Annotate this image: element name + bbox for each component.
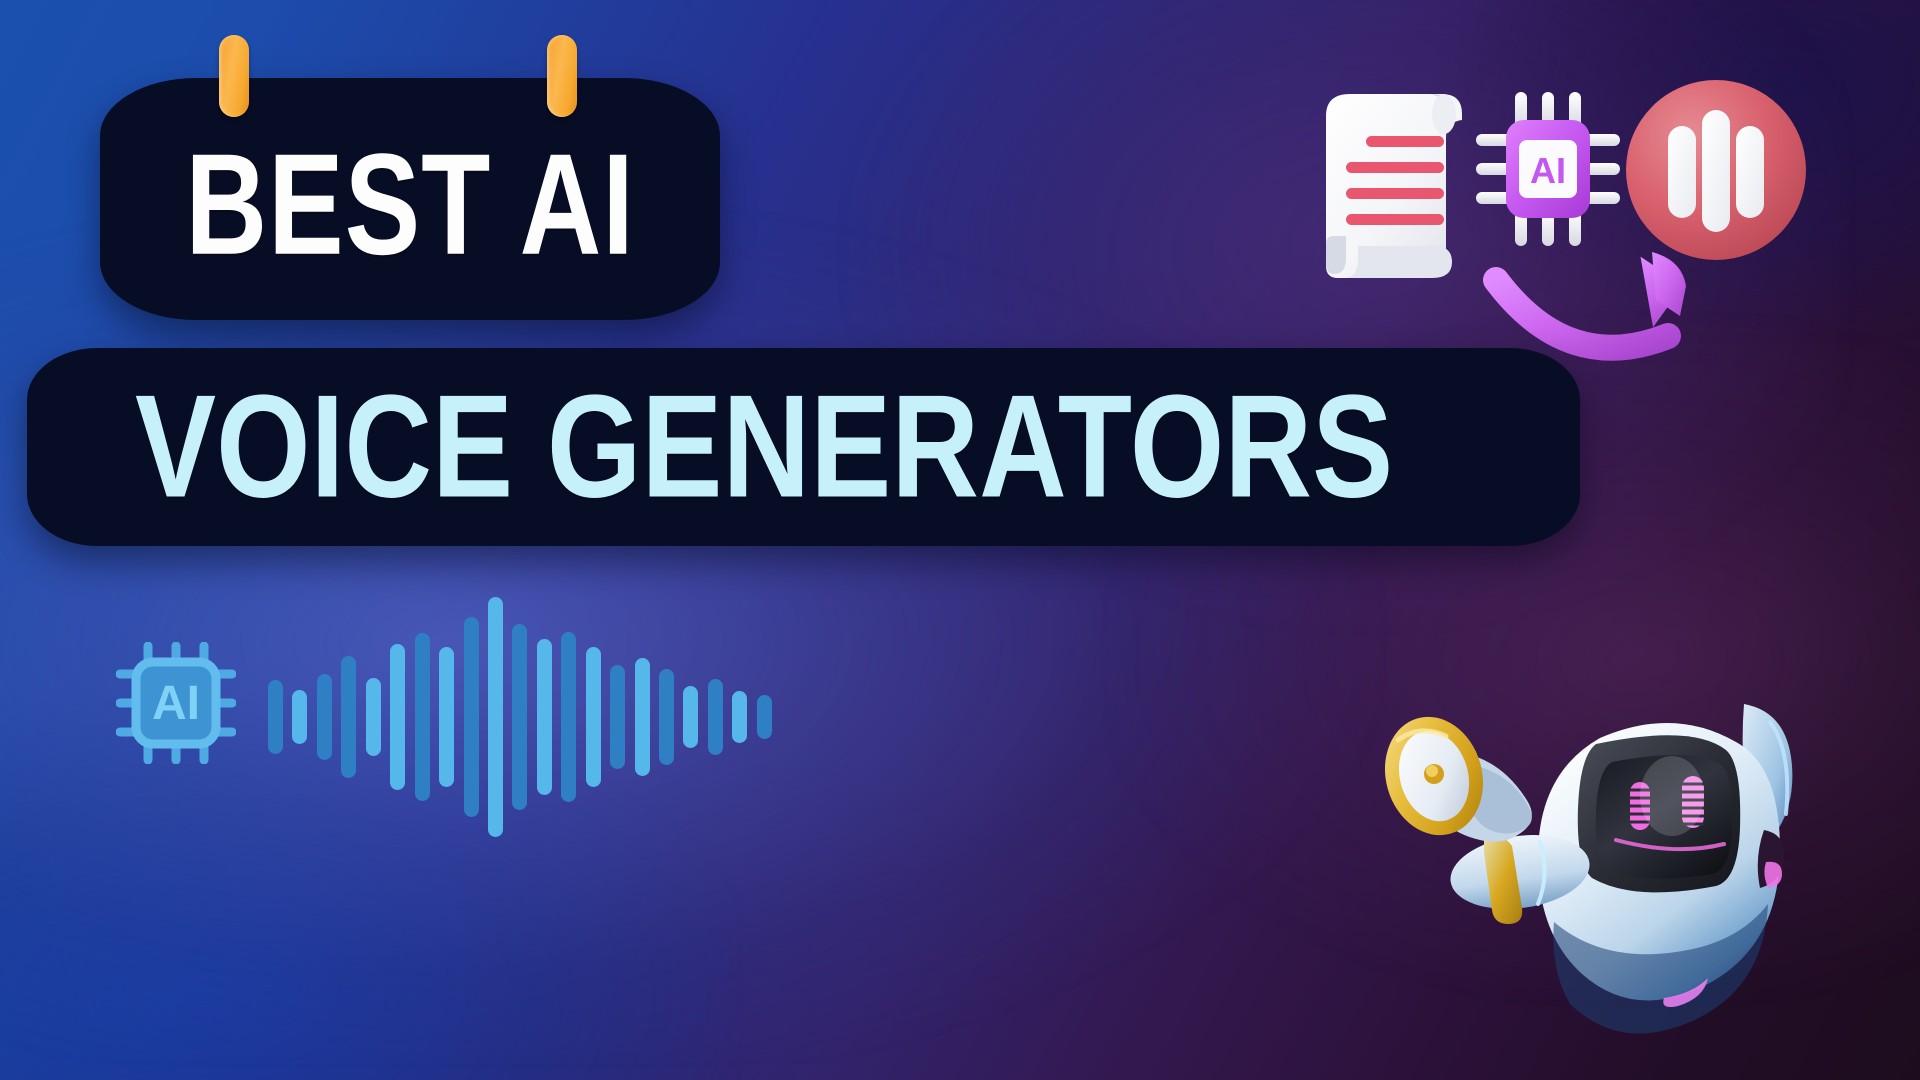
- audio-waveform: [268, 592, 772, 842]
- waveform-bar: [366, 678, 381, 756]
- script-document-icon: [1318, 94, 1462, 278]
- waveform-bar: [732, 691, 747, 743]
- audio-bars-icon: [1626, 80, 1806, 260]
- page-title-line2: VOICE GENERATORS: [135, 374, 1393, 520]
- robot-visor: [1578, 735, 1740, 892]
- waveform-bar: [512, 624, 527, 810]
- ai-chip-label: AI: [152, 677, 200, 730]
- waveform-bar: [415, 633, 430, 801]
- ai-chip-icon: AI: [116, 642, 236, 764]
- pin-left: [219, 35, 249, 117]
- megaphone-icon: [1372, 705, 1532, 924]
- ai-chip-label: AI: [1530, 150, 1566, 191]
- waveform-bar: [317, 674, 332, 760]
- waveform-bar: [561, 632, 576, 802]
- waveform-bar: [635, 658, 650, 776]
- waveform-bar: [341, 656, 356, 778]
- waveform-bar: [488, 597, 503, 837]
- waveform-bar: [439, 647, 454, 787]
- poster-canvas: BEST AI VOICE GENERATORS AI: [0, 0, 1920, 1080]
- curved-arrow-icon: [1496, 252, 1687, 348]
- waveform-bar: [268, 680, 283, 754]
- ai-chip-icon: AI: [1476, 92, 1620, 246]
- waveform-bar: [537, 639, 552, 795]
- waveform-bar: [683, 686, 698, 748]
- waveform-bar: [610, 665, 625, 769]
- pin-right: [547, 35, 577, 117]
- headline-plate-line1: BEST AI: [100, 78, 720, 320]
- waveform-bar: [464, 617, 479, 817]
- waveform-bar: [292, 690, 307, 744]
- page-title-line1: BEST AI: [185, 133, 634, 277]
- waveform-bar: [390, 644, 405, 790]
- headline-plate-line2: VOICE GENERATORS: [27, 348, 1580, 546]
- waveform-bar: [586, 647, 601, 787]
- waveform-bar: [659, 669, 674, 765]
- waveform-bar: [708, 679, 723, 755]
- waveform-bar: [757, 695, 772, 739]
- robot-with-megaphone: [1372, 700, 1852, 1080]
